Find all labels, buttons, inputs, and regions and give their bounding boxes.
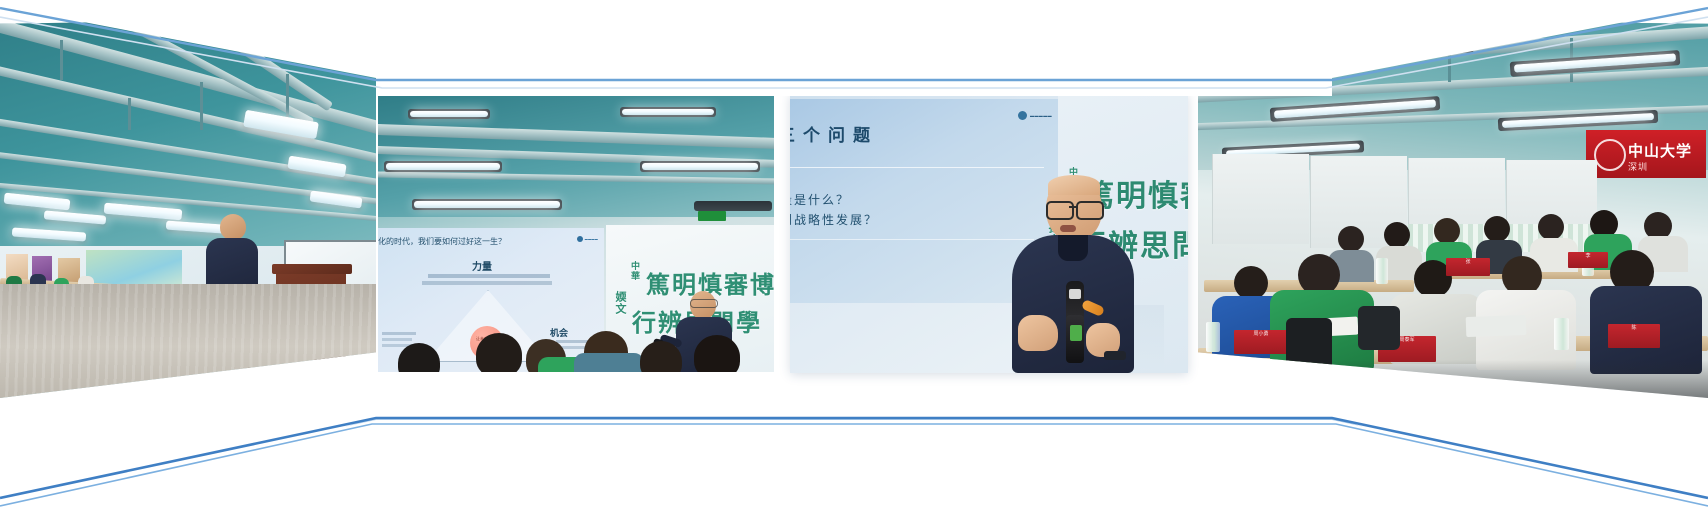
stage-floor-haze (0, 418, 1708, 523)
water-bottle (1554, 318, 1569, 350)
banner-subtext: 深圳 (1628, 160, 1648, 173)
name-card: 陈 (1608, 324, 1660, 348)
banner-text: 中山大学 (1628, 140, 1692, 161)
photo-carousel-stage: 化的时代，我们要如何过好这一生？ ▬▬▬▬ 力量 让未来更美好 机会 (0, 0, 1708, 523)
carousel-slide-left[interactable] (0, 18, 376, 398)
university-emblem-icon (1594, 139, 1626, 171)
slide-right-photo: 中山大学 深圳 (1198, 18, 1708, 398)
slide-thumb-b-photo: ▬▬▬▬▬ 三个问题 量是什么？ 到战略性发展？ 篤明慎審博 行辨思問學 中華民… (790, 93, 1188, 373)
water-bottle (1376, 258, 1388, 284)
slide-b-line2: 到战略性发展？ (790, 211, 878, 228)
carousel-slide-thumb-b[interactable]: ▬▬▬▬▬ 三个问题 量是什么？ 到战略性发展？ 篤明慎審博 行辨思問學 中華民… (790, 93, 1188, 373)
university-banner: 中山大学 深圳 (1586, 130, 1706, 178)
carousel-slide-thumb-a[interactable]: 化的时代，我们要如何过好这一生？ ▬▬▬▬ 力量 让未来更美好 机会 (378, 95, 774, 372)
slide-thumb-a-photo: 化的时代，我们要如何过好这一生？ ▬▬▬▬ 力量 让未来更美好 机会 (378, 95, 774, 372)
wristwatch-icon (1104, 351, 1126, 360)
slide-left-photo (0, 18, 376, 398)
slide-b-line1: 量是什么？ (790, 191, 850, 208)
exit-sign-icon (698, 211, 726, 221)
wall-signature-a: 媆文 (612, 291, 628, 321)
name-card: 李 (1568, 252, 1608, 268)
carousel-slide-right[interactable]: 中山大学 深圳 (1198, 18, 1708, 398)
slide-a-heading: 化的时代，我们要如何过好这一生？ (378, 236, 506, 247)
wall-side-text-a: 中華 (628, 261, 641, 301)
slide-b-heading: 三个问题 (790, 121, 878, 146)
water-bottle (1206, 322, 1220, 352)
name-card: 张 (1446, 258, 1490, 276)
brand-logo-icon (577, 236, 583, 242)
featured-speaker-figure (1008, 175, 1136, 373)
slide-a-node-right: 机会 (550, 326, 568, 339)
brand-logo-icon-b (1018, 111, 1027, 120)
name-card: 周小勇 (1234, 330, 1288, 354)
glasses-icon (1046, 201, 1074, 220)
slide-a-node-top: 力量 (472, 258, 492, 273)
